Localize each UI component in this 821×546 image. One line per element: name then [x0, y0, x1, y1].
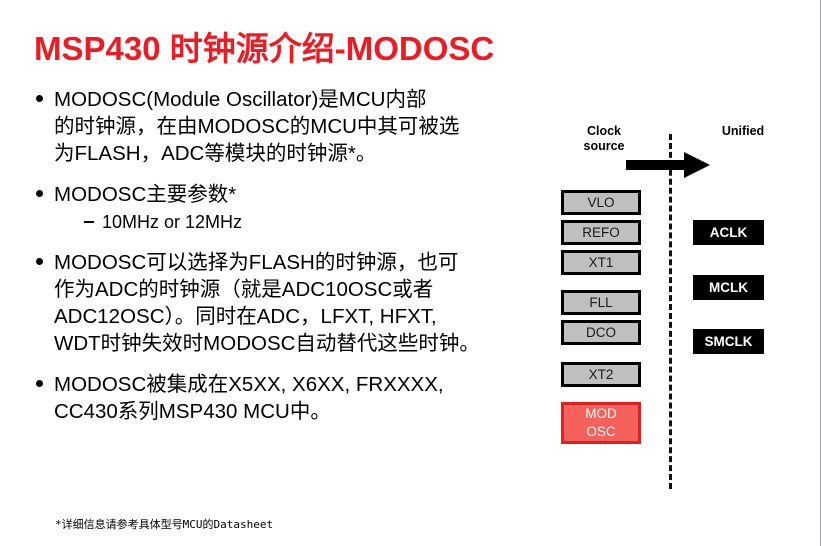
dashed-vertical-divider-icon [669, 134, 672, 489]
clock-source-box-xt1[interactable]: XT1 [561, 250, 641, 275]
modosc-label-line1: MOD [585, 405, 617, 423]
bullet-dot-icon [36, 258, 43, 265]
bullet-line: 的时钟源，在由MODOSC的MCU中其可被选 [54, 113, 552, 140]
bullet-dot-icon [36, 380, 43, 387]
right-arrow-icon [626, 152, 710, 178]
unified-clock-box-aclk[interactable]: ACLK [693, 220, 764, 245]
clock-source-box-modosc[interactable]: MODOSC [561, 402, 641, 444]
bullet-item: MODOSC被集成在X5XX, X6XX, FRXXXX,CC430系列MSP4… [32, 371, 552, 425]
bullet-dot-icon [36, 190, 43, 197]
clock-source-box-refo[interactable]: REFO [561, 220, 641, 245]
bullet-item: MODOSC(Module Oscillator)是MCU内部的时钟源，在由MO… [32, 86, 552, 167]
bullet-line: 作为ADC的时钟源（就是ADC10OSC或者 [54, 276, 552, 303]
bullet-line: MODOSC被集成在X5XX, X6XX, FRXXXX, [54, 371, 552, 398]
page-title: MSP430 时钟源介绍-MODOSC [34, 22, 494, 70]
bullet-item: MODOSC可以选择为FLASH的时钟源，也可作为ADC的时钟源（就是ADC10… [32, 249, 552, 357]
bullet-line: WDT时钟失效时MODOSC自动替代这些时钟。 [54, 330, 552, 357]
bullet-line: MODOSC(Module Oscillator)是MCU内部 [54, 86, 552, 113]
bullet-list: MODOSC(Module Oscillator)是MCU内部的时钟源，在由MO… [32, 86, 552, 439]
bullet-line: MODOSC主要参数* [54, 181, 552, 208]
unified-clock-box-smclk[interactable]: SMCLK [693, 329, 764, 354]
bullet-dot-icon [36, 95, 43, 102]
clock-source-diagram: Clock source Unified VLOREFOXT1FLLDCOXT2… [548, 112, 821, 482]
bullet-line: ADC12OSC）。同时在ADC，LFXT, HFXT, [54, 303, 552, 330]
footnote-text: *详细信息请参考具体型号MCU的Datasheet [55, 516, 273, 532]
sub-bullet-item: 10MHz or 12MHz [54, 210, 552, 235]
unified-clock-box-mclk[interactable]: MCLK [693, 275, 764, 300]
sub-bullet-dash-icon [84, 221, 94, 223]
bullet-item: MODOSC主要参数*10MHz or 12MHz [32, 181, 552, 235]
diagram-header-unified: Unified [688, 124, 798, 139]
clock-source-box-fll[interactable]: FLL [561, 290, 641, 315]
bullet-line: MODOSC可以选择为FLASH的时钟源，也可 [54, 249, 552, 276]
sub-bullet-line: 10MHz or 12MHz [102, 210, 552, 235]
bullet-line: CC430系列MSP430 MCU中。 [54, 398, 552, 425]
clock-source-box-dco[interactable]: DCO [561, 320, 641, 345]
diagram-header-clock-source: Clock source [558, 124, 650, 154]
slide-canvas: MSP430 时钟源介绍-MODOSC MODOSC(Module Oscill… [0, 0, 821, 546]
diagram-header-clock-line1: Clock [558, 124, 650, 139]
clock-source-box-vlo[interactable]: VLO [561, 190, 641, 215]
bullet-line: 为FLASH，ADC等模块的时钟源*。 [54, 140, 552, 167]
clock-source-box-xt2[interactable]: XT2 [561, 362, 641, 387]
modosc-label-line2: OSC [586, 423, 615, 441]
